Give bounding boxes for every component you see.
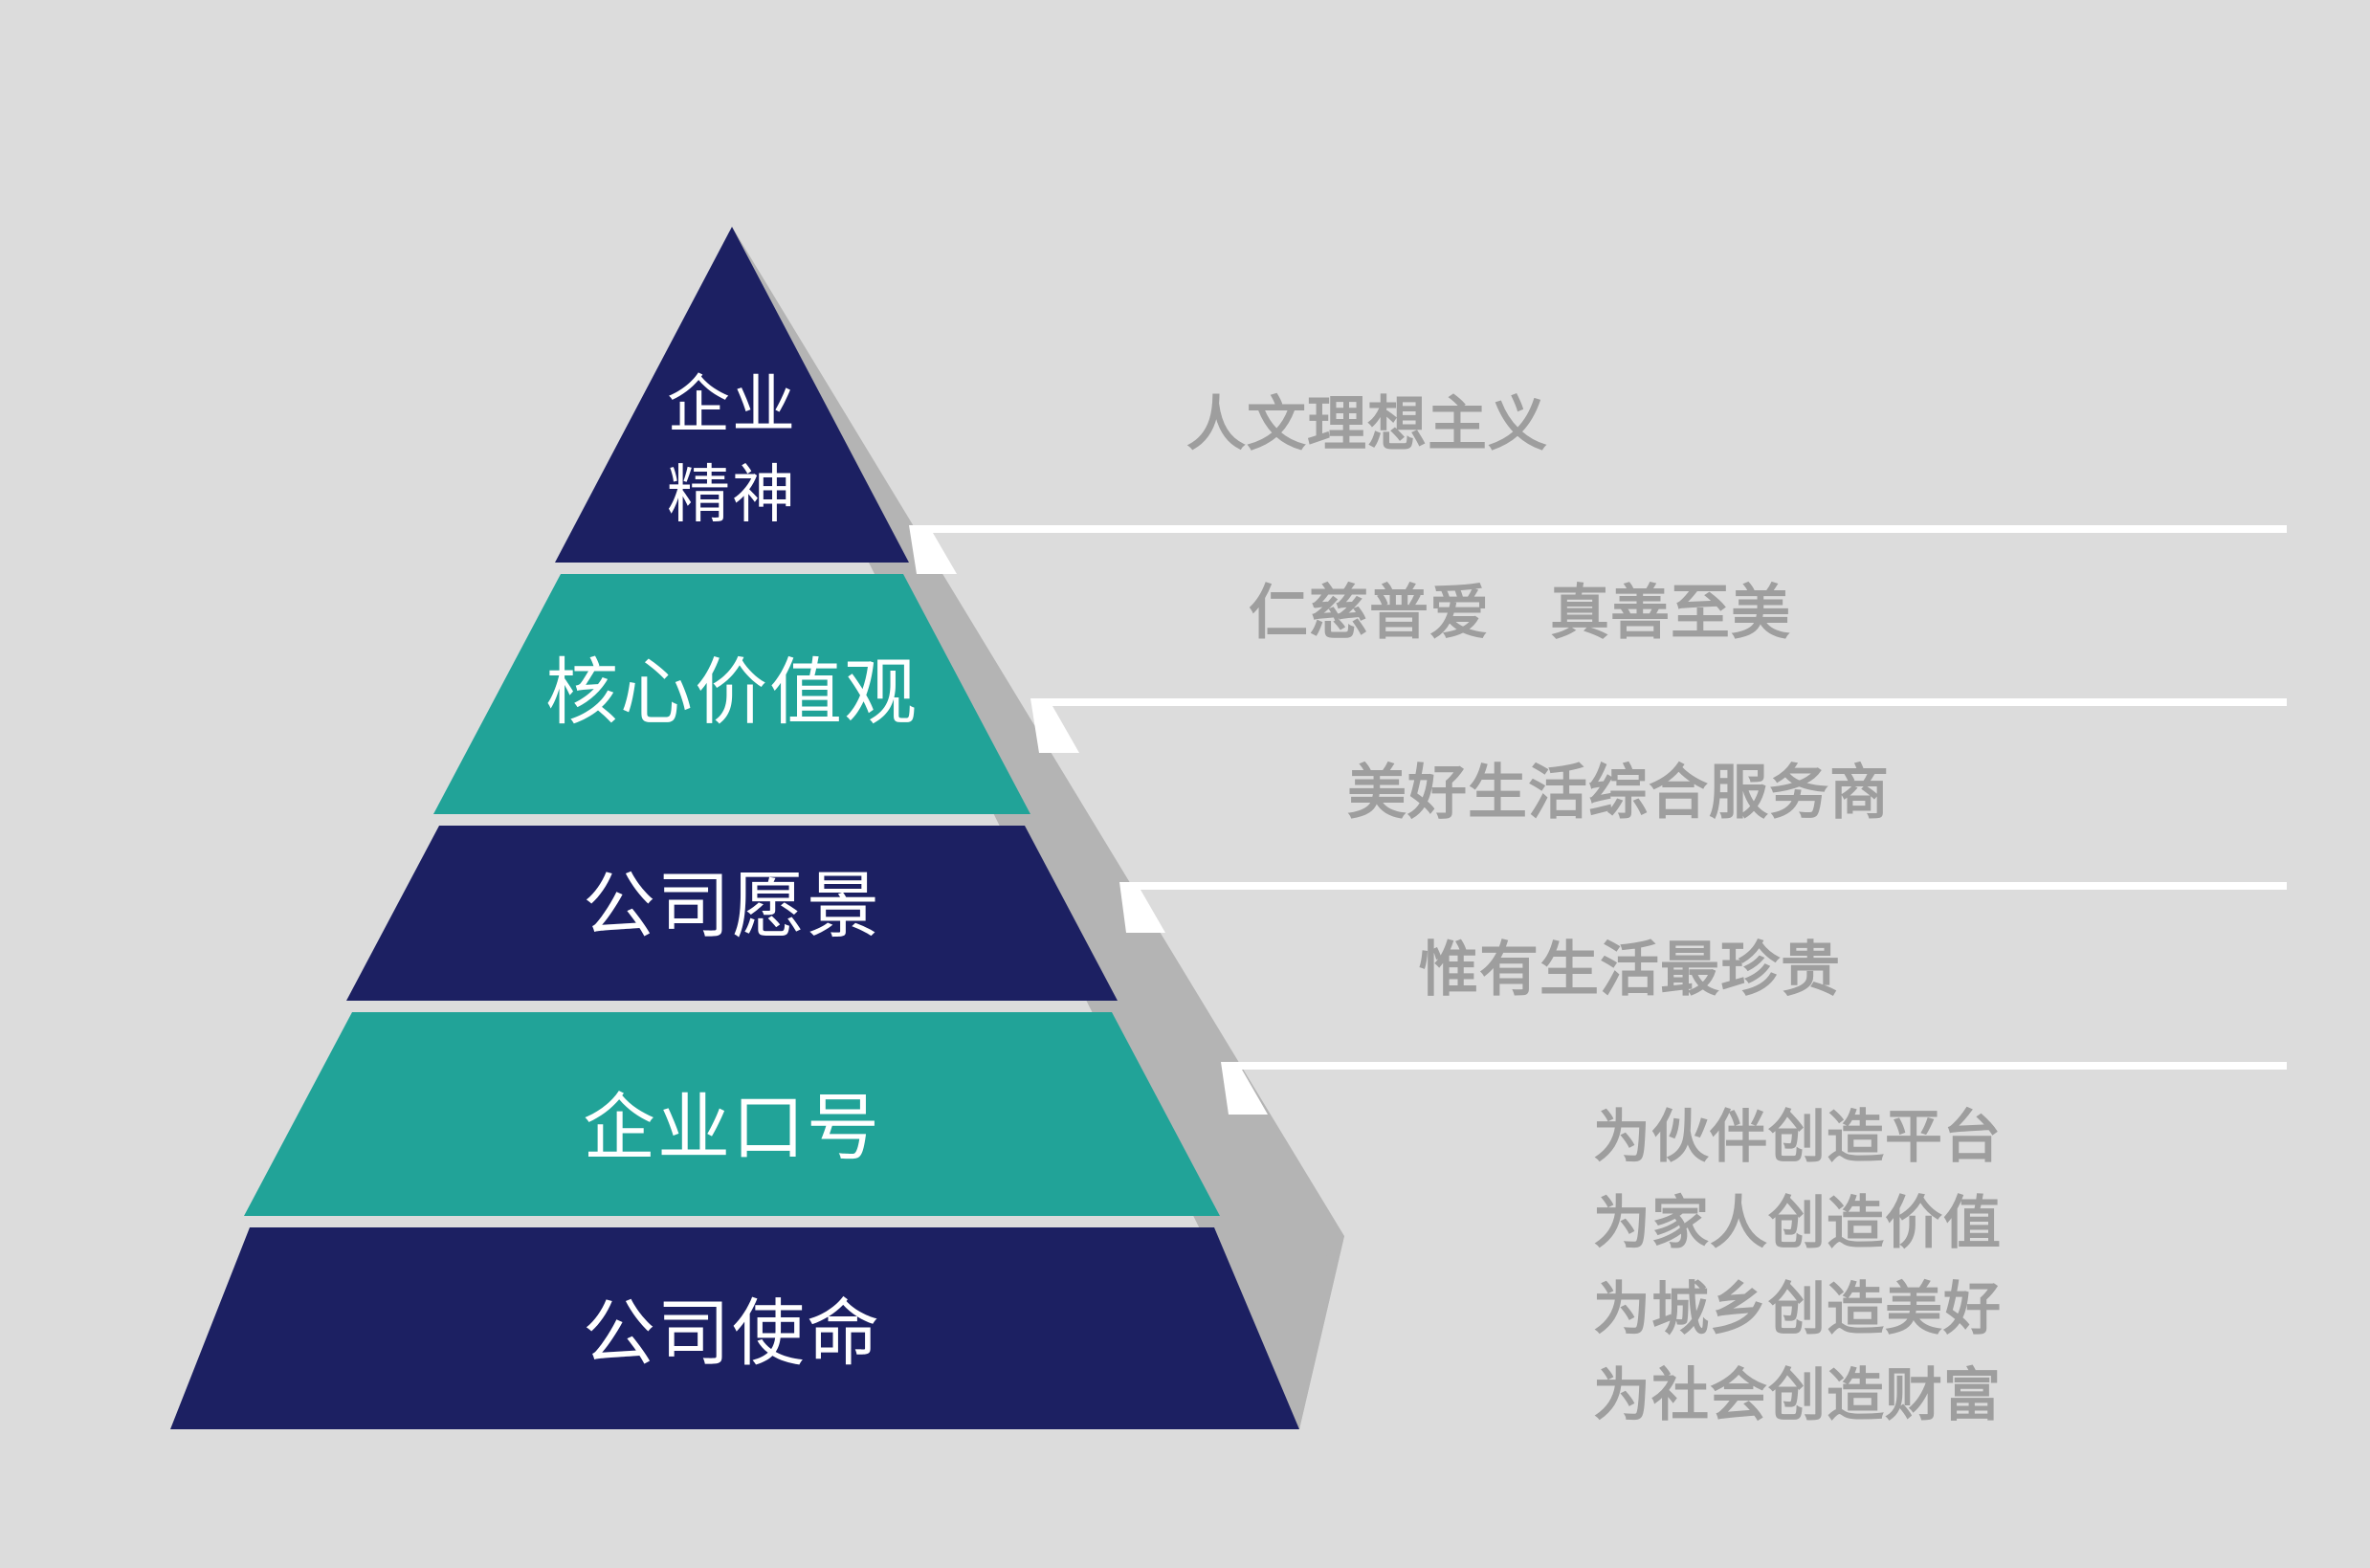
corporate-culture-pyramid: 企业 精神 核心价值观 公司愿景 企业口号 公司使命 人文理想主义 仁慈普爱 真… <box>0 0 2370 1568</box>
callout-corporate-slogan-line1: 惟有生活最珍贵 <box>1419 937 1841 1003</box>
callout-company-vision-line1: 美好生活综合服务商 <box>1347 760 1890 826</box>
callout-company-mission-line4: 为社会创造财富 <box>1593 1363 2002 1427</box>
tier-label-company-mission: 公司使命 <box>583 1293 881 1375</box>
callout-core-values-line1: 仁慈普爱 真善至美 <box>1249 580 1791 646</box>
tier-label-corporate-slogan: 企业口号 <box>583 1088 881 1169</box>
tier-label-core-values: 核心价值观 <box>545 652 919 734</box>
tier-label-company-vision: 公司愿景 <box>583 866 881 947</box>
diagram-canvas: 企业 精神 核心价值观 公司愿景 企业口号 公司使命 人文理想主义 仁慈普爱 真… <box>0 0 2370 1568</box>
callout-corporate-spirit-line1: 人文理想主义 <box>1186 391 1548 457</box>
tier-label-corporate-spirit-line2: 精神 <box>667 458 797 529</box>
callout-company-mission-line3: 为城乡创造美好 <box>1593 1277 2002 1341</box>
callout-company-mission-line2: 为家人创造价值 <box>1593 1191 2002 1255</box>
callout-company-mission-line1: 为伙伴创造平台 <box>1593 1105 2002 1169</box>
tier-label-corporate-spirit-line1: 企业 <box>667 368 797 439</box>
